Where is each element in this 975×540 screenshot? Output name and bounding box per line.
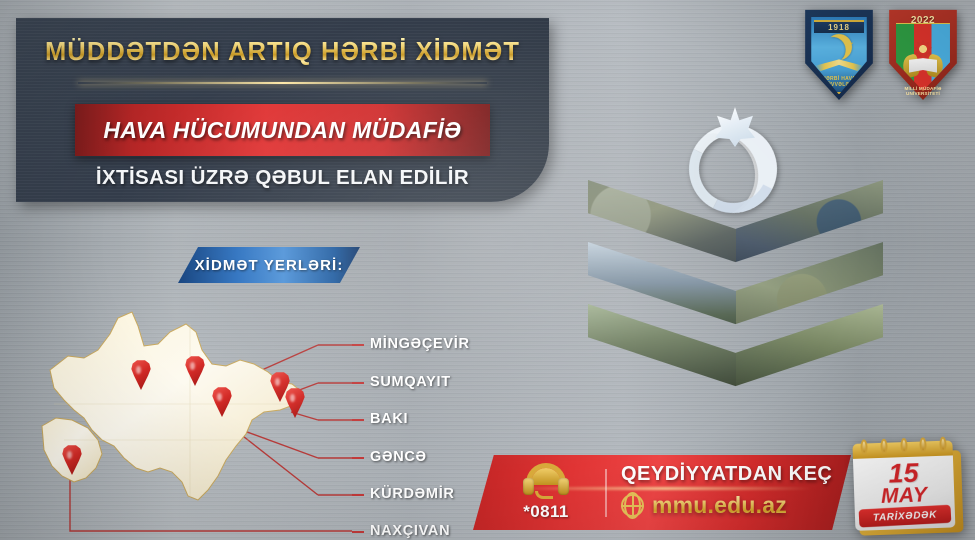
- deadline-note: TARİXƏDƏK: [873, 509, 938, 523]
- service-places-label: XİDMƏT YERLƏRİ:: [195, 257, 344, 274]
- cta-text-block: QEYDİYYATDAN KEÇ mmu.edu.az: [621, 463, 839, 519]
- emblem-caption-university: MİLLİ MÜDAFİƏ UNİVERSİTETİ: [887, 86, 959, 96]
- website-url[interactable]: mmu.edu.az: [652, 492, 787, 519]
- open-book-icon: [909, 58, 937, 73]
- dash-sumqayit: [352, 382, 364, 384]
- cta-headline: QEYDİYYATDAN KEÇ: [621, 463, 839, 486]
- gold-divider: [78, 82, 487, 84]
- shield-inner: [895, 23, 951, 91]
- map-pin-naxcivan[interactable]: [61, 445, 83, 475]
- dash-baki: [352, 419, 364, 421]
- globe-icon: [621, 494, 644, 517]
- city-label-naxcivan: NAXÇIVAN: [370, 523, 450, 539]
- cta-divider: [605, 469, 607, 517]
- service-places-banner: XİDMƏT YERLƏRİ:: [178, 247, 360, 283]
- dash-kurdemir: [352, 494, 364, 496]
- registration-cta-bar[interactable]: *0811 QEYDİYYATDAN KEÇ mmu.edu.az: [473, 455, 851, 530]
- national-defence-university-emblem: 2022 MİLLİ MÜDAFİƏ UNİVERSİTETİ: [887, 8, 959, 100]
- poster-canvas: MÜDDƏTDƏN ARTIQ HƏRBİ XİDMƏT HAVA HÜCUMU…: [0, 0, 975, 540]
- map-pin-baki[interactable]: [284, 388, 306, 418]
- city-label-kurdemir: KÜRDƏMİR: [370, 486, 455, 502]
- chevron-photo-collage: [588, 180, 883, 415]
- dash-mingecevir: [352, 344, 364, 346]
- specialty-label: HAVA HÜCUMUNDAN MÜDAFİƏ: [103, 117, 461, 144]
- dash-gence: [352, 457, 364, 459]
- calendar-spiral-rings-icon: [860, 437, 947, 456]
- air-force-emblem: 1918 HƏRBİ HAVA QÜVVƏLƏRİ: [803, 8, 875, 100]
- shield-inner: 1918 HƏRBİ HAVA QÜVVƏLƏRİ: [809, 15, 868, 94]
- city-label-mingecevir: MİNGƏÇEVİR: [370, 336, 470, 352]
- azerbaijan-map: [40, 300, 340, 535]
- specialty-highlight: HAVA HÜCUMUNDAN MÜDAFİƏ: [75, 104, 490, 156]
- hotline-number[interactable]: *0811: [498, 502, 594, 522]
- photo-mobile-radar-vehicle: [736, 304, 884, 408]
- city-label-gence: GƏNCƏ: [370, 449, 427, 465]
- city-label-baki: BAKI: [370, 411, 408, 427]
- map-pin-kurdemir[interactable]: [211, 387, 233, 417]
- hotline-block[interactable]: *0811: [498, 463, 594, 522]
- photo-field-artillery-crew: [588, 304, 736, 408]
- headline-panel: MÜDDƏTDƏN ARTIQ HƏRBİ XİDMƏT HAVA HÜCUMU…: [16, 18, 549, 202]
- headset-icon: [523, 463, 569, 499]
- page-subtitle: İXTİSASI ÜZRƏ QƏBUL ELAN EDİLİR: [16, 166, 549, 190]
- emblem-year-airforce: 1918: [814, 20, 865, 34]
- emblem-group: 1918 HƏRBİ HAVA QÜVVƏLƏRİ 2022 MİLLİ MÜD…: [803, 8, 959, 100]
- wings-icon: [815, 59, 863, 75]
- deadline-calendar: 15 MAY TARİXƏDƏK: [852, 440, 963, 536]
- page-title: MÜDDƏTDƏN ARTIQ HƏRBİ XİDMƏT: [16, 38, 549, 67]
- dash-naxcivan: [352, 531, 364, 533]
- city-label-sumqayit: SUMQAYIT: [370, 374, 451, 390]
- map-pin-gence[interactable]: [130, 360, 152, 390]
- map-pin-mingecevir[interactable]: [184, 356, 206, 386]
